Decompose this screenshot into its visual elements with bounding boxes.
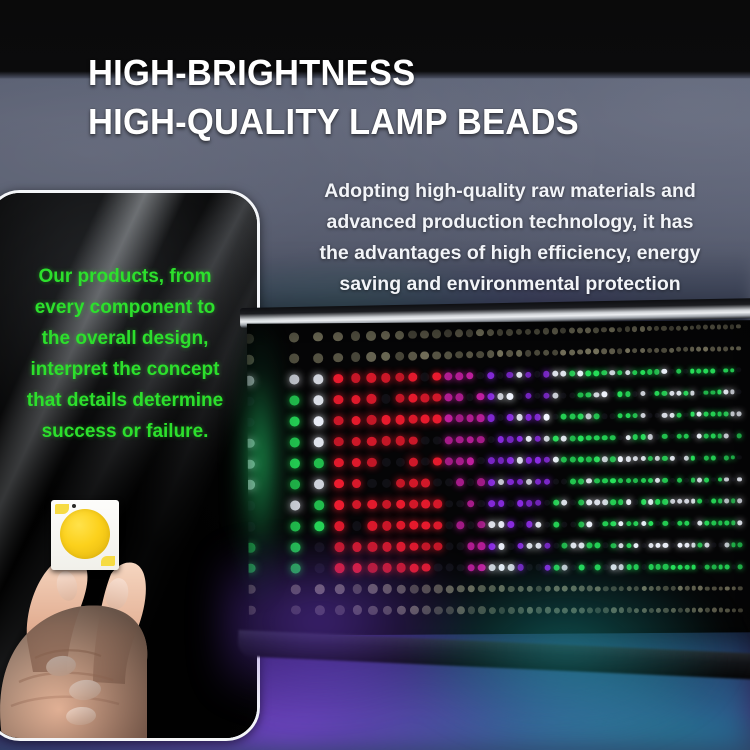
led-dot xyxy=(382,563,392,573)
led-dot xyxy=(669,347,674,352)
led-dot xyxy=(409,500,418,509)
led-dot xyxy=(723,324,728,329)
led-dot xyxy=(422,521,431,530)
led-dot xyxy=(409,479,418,488)
led-dot xyxy=(468,564,476,572)
led-dot xyxy=(678,608,683,613)
led-dot xyxy=(610,435,616,441)
led-dot xyxy=(730,324,735,329)
led-dot xyxy=(624,327,629,332)
led-dot xyxy=(291,563,301,573)
led-dot xyxy=(737,411,742,416)
led-dot xyxy=(534,371,540,377)
led-dot xyxy=(506,350,513,357)
led-dot xyxy=(498,543,505,550)
led-dot xyxy=(422,563,431,572)
led-dot xyxy=(487,436,494,443)
led-dot xyxy=(445,500,453,508)
led-dot xyxy=(602,456,608,462)
led-dot xyxy=(579,564,585,570)
led-dot xyxy=(711,477,716,482)
led-dot xyxy=(724,477,729,482)
led-dot xyxy=(467,500,475,508)
led-dot xyxy=(670,478,675,483)
led-dot xyxy=(527,564,534,571)
led-dot xyxy=(314,479,324,489)
led-dot xyxy=(668,326,673,331)
led-dot xyxy=(648,499,653,504)
led-dot xyxy=(684,543,689,548)
led-dot xyxy=(640,370,645,375)
led-dot xyxy=(315,563,325,573)
led-dot xyxy=(639,326,644,331)
led-dot xyxy=(578,521,584,527)
led-dot xyxy=(669,456,674,461)
led-dot xyxy=(408,394,417,403)
led-dot xyxy=(315,584,325,594)
led-dot xyxy=(603,586,609,592)
led-dot xyxy=(367,500,377,510)
led-dot xyxy=(457,585,465,593)
led-dot xyxy=(395,330,404,339)
led-dot xyxy=(313,332,323,342)
led-dot xyxy=(445,542,453,550)
led-dot xyxy=(395,415,404,424)
led-dot xyxy=(655,413,660,418)
led-dot xyxy=(507,436,514,443)
led-dot xyxy=(477,393,484,400)
led-dot xyxy=(421,457,430,466)
led-dot xyxy=(351,395,361,405)
led-dot xyxy=(334,416,344,426)
led-dot xyxy=(544,521,550,527)
led-dot xyxy=(595,564,601,570)
led-dot xyxy=(535,436,541,442)
led-dot xyxy=(717,346,722,351)
led-dot xyxy=(382,436,392,446)
led-dot xyxy=(683,325,688,330)
led-dot xyxy=(577,371,583,377)
led-dot xyxy=(737,390,742,395)
led-dot xyxy=(456,521,464,529)
led-dot xyxy=(691,543,696,548)
led-dot xyxy=(602,500,608,506)
led-dot xyxy=(697,412,702,417)
led-dot xyxy=(553,457,559,463)
led-dot xyxy=(534,328,540,334)
led-dot xyxy=(718,521,723,526)
led-dot xyxy=(570,564,576,570)
led-dot xyxy=(697,369,702,374)
led-dot xyxy=(335,563,345,573)
led-dot xyxy=(434,521,442,529)
led-dot xyxy=(525,393,532,400)
led-dot xyxy=(676,456,681,461)
led-dot xyxy=(545,586,551,592)
led-dot xyxy=(289,333,299,343)
led-dot xyxy=(498,500,505,507)
led-dot xyxy=(640,456,645,461)
led-dot xyxy=(396,563,405,572)
led-dot xyxy=(290,480,300,490)
led-dot xyxy=(351,458,361,468)
led-dot xyxy=(498,564,505,571)
led-dot xyxy=(410,585,419,594)
led-dot xyxy=(506,329,513,336)
led-dot xyxy=(488,564,495,571)
led-dot xyxy=(544,414,550,420)
led-dot xyxy=(587,586,593,592)
led-dot xyxy=(433,479,441,487)
led-dot xyxy=(663,608,668,613)
led-dot xyxy=(352,605,362,615)
led-dot xyxy=(569,371,575,377)
led-dot xyxy=(396,478,405,487)
led-dot xyxy=(705,564,710,569)
led-dot xyxy=(689,325,694,330)
led-dot xyxy=(569,392,575,398)
led-dot xyxy=(610,413,616,419)
led-dot xyxy=(691,586,696,591)
led-dot xyxy=(710,390,715,395)
led-dot xyxy=(691,564,696,569)
led-dot xyxy=(703,368,708,373)
led-dot xyxy=(718,586,723,591)
led-dot xyxy=(545,564,551,570)
led-dot xyxy=(602,435,608,441)
led-dot xyxy=(526,457,533,464)
led-dot xyxy=(647,326,652,331)
led-dot xyxy=(662,369,667,374)
led-dot xyxy=(444,330,452,338)
led-dot xyxy=(381,373,391,383)
inset-photo-panel: Our products, from every component to th… xyxy=(0,190,260,741)
led-dot xyxy=(586,435,592,441)
led-dot xyxy=(619,586,625,592)
led-dot xyxy=(647,391,652,396)
led-dot xyxy=(498,521,505,528)
led-dot xyxy=(497,350,504,357)
led-dot xyxy=(351,352,361,362)
led-dot xyxy=(677,586,682,591)
led-dot xyxy=(552,371,558,377)
led-dot xyxy=(422,500,431,509)
led-dot xyxy=(595,607,601,613)
led-dot xyxy=(663,564,668,569)
led-dot xyxy=(717,368,722,373)
led-dot xyxy=(731,564,736,569)
led-dot xyxy=(544,478,550,484)
led-dot xyxy=(594,370,600,376)
led-dot xyxy=(247,355,254,365)
led-dot xyxy=(478,500,485,507)
led-dot xyxy=(602,392,608,398)
led-dot xyxy=(670,543,675,548)
led-dot xyxy=(457,542,465,550)
led-dot xyxy=(553,564,559,570)
led-dot xyxy=(683,390,688,395)
led-dot xyxy=(382,521,392,531)
led-dot xyxy=(725,543,730,548)
led-dot xyxy=(677,477,682,482)
led-dot xyxy=(352,584,362,594)
led-dot xyxy=(368,563,378,573)
led-dot xyxy=(633,413,638,418)
led-dot xyxy=(736,324,741,329)
led-dot xyxy=(552,435,558,441)
led-dot xyxy=(536,564,542,570)
led-dot xyxy=(467,479,475,487)
led-dot xyxy=(434,606,442,614)
led-dot xyxy=(696,325,701,330)
led-dot xyxy=(585,349,591,355)
led-dot xyxy=(290,501,300,511)
led-dot xyxy=(467,436,475,444)
led-dot xyxy=(517,543,524,550)
led-dot xyxy=(587,607,593,613)
led-dot xyxy=(289,354,299,364)
led-dot xyxy=(516,371,523,378)
led-dot xyxy=(570,457,576,463)
led-dot xyxy=(446,564,454,572)
led-dot xyxy=(676,391,681,396)
led-dot xyxy=(587,543,593,549)
led-dot xyxy=(291,543,301,553)
led-dot xyxy=(455,330,463,338)
led-dot xyxy=(247,376,254,386)
led-dot xyxy=(737,499,742,504)
led-dot xyxy=(446,585,454,593)
led-dot xyxy=(561,457,567,463)
led-dot xyxy=(534,393,540,399)
led-dot xyxy=(397,606,406,615)
led-dot xyxy=(569,435,575,441)
led-dot xyxy=(334,479,344,489)
led-dot xyxy=(586,478,592,484)
led-dot xyxy=(698,543,703,548)
led-dot xyxy=(711,564,716,569)
led-dot xyxy=(351,437,361,447)
led-dot xyxy=(544,500,550,506)
led-dot xyxy=(456,415,464,423)
led-dot xyxy=(691,608,696,613)
led-dot xyxy=(704,477,709,482)
led-dot xyxy=(640,413,645,418)
led-dot xyxy=(595,543,601,549)
led-dot xyxy=(595,521,601,527)
led-dot xyxy=(554,607,560,613)
led-dot xyxy=(654,348,659,353)
led-dot xyxy=(602,413,608,419)
led-dot xyxy=(433,372,441,380)
led-dot xyxy=(725,586,730,591)
led-dot xyxy=(410,606,419,615)
led-dot xyxy=(626,499,631,504)
led-dot xyxy=(368,605,378,615)
led-dot xyxy=(552,414,558,420)
led-dot xyxy=(527,586,534,593)
led-dot xyxy=(536,607,542,613)
led-dot xyxy=(466,393,474,401)
led-dot xyxy=(684,521,689,526)
led-dot xyxy=(433,415,441,423)
led-dot xyxy=(670,499,675,504)
led-dot xyxy=(626,478,631,483)
led-dot xyxy=(641,608,646,613)
led-dot xyxy=(696,347,701,352)
led-dot xyxy=(352,542,362,552)
led-dot xyxy=(571,607,577,613)
led-bezel-bottom xyxy=(237,630,750,680)
led-dot xyxy=(704,434,709,439)
led-dot xyxy=(466,351,474,359)
led-dot xyxy=(611,543,617,549)
led-dot xyxy=(498,479,505,486)
led-dot xyxy=(725,608,730,613)
led-dot xyxy=(552,392,558,398)
led-dot xyxy=(544,543,550,549)
led-dot xyxy=(724,499,729,504)
led-dot xyxy=(334,521,344,531)
led-dot xyxy=(526,436,533,443)
led-dot xyxy=(595,586,601,592)
led-dot xyxy=(704,521,709,526)
led-dot xyxy=(602,478,608,484)
led-dot xyxy=(603,607,609,613)
led-dot xyxy=(314,458,324,468)
led-dot xyxy=(577,392,583,398)
led-dot xyxy=(570,500,576,506)
led-dot xyxy=(409,457,418,466)
cob-led-chip xyxy=(51,500,119,570)
led-dot xyxy=(698,564,703,569)
led-dot xyxy=(562,586,568,592)
led-dot xyxy=(690,434,695,439)
led-dot xyxy=(477,372,484,379)
led-dot xyxy=(577,327,583,333)
led-dot xyxy=(594,435,600,441)
hand-holding-chip-photo xyxy=(0,444,257,741)
led-dot xyxy=(698,499,703,504)
led-dot xyxy=(433,457,441,465)
led-dot xyxy=(498,585,505,592)
led-dot xyxy=(517,521,524,528)
led-dot xyxy=(478,585,485,592)
led-dot xyxy=(618,543,624,549)
led-dot xyxy=(649,586,654,591)
led-dot xyxy=(718,477,723,482)
led-dot xyxy=(724,433,729,438)
led-dot xyxy=(731,521,736,526)
led-dot xyxy=(383,605,393,615)
led-dot xyxy=(553,586,559,592)
led-dot xyxy=(477,351,484,358)
led-dot xyxy=(662,456,667,461)
led-dot xyxy=(507,500,514,507)
led-dot xyxy=(445,436,453,444)
led-dot xyxy=(290,375,300,385)
led-dot xyxy=(625,391,630,396)
led-dot xyxy=(434,564,442,572)
led-dot xyxy=(487,457,494,464)
led-dot xyxy=(366,352,376,362)
led-dot xyxy=(367,394,377,404)
led-dot xyxy=(676,347,681,352)
led-dot xyxy=(478,564,485,571)
led-dot xyxy=(632,326,637,331)
led-dot xyxy=(737,433,742,438)
led-dot xyxy=(352,521,362,531)
led-dot xyxy=(496,329,503,336)
led-dot xyxy=(663,521,668,526)
led-dot xyxy=(352,500,362,510)
led-dot xyxy=(691,499,696,504)
led-dot xyxy=(445,521,453,529)
led-dot xyxy=(656,543,661,548)
led-dot xyxy=(545,607,551,613)
chip-phosphor-dome xyxy=(60,509,110,559)
led-dot xyxy=(552,328,558,334)
led-dot xyxy=(395,394,404,403)
led-dot xyxy=(610,478,616,484)
led-dot xyxy=(669,369,674,374)
led-dot xyxy=(594,413,600,419)
led-dot xyxy=(562,521,568,527)
led-dot xyxy=(579,586,585,592)
led-dot xyxy=(593,327,599,333)
led-dot xyxy=(655,478,660,483)
led-dot xyxy=(677,521,682,526)
led-dot xyxy=(663,499,668,504)
led-dot xyxy=(526,543,533,550)
led-dot xyxy=(632,391,637,396)
led-dot xyxy=(497,414,504,421)
led-dot xyxy=(712,586,717,591)
led-dot xyxy=(633,435,638,440)
led-dot xyxy=(738,564,743,569)
led-dot xyxy=(731,455,736,460)
led-dot xyxy=(578,414,584,420)
led-dot xyxy=(383,584,393,594)
led-dot xyxy=(488,585,495,592)
led-dot xyxy=(718,608,723,613)
led-dot xyxy=(381,415,391,425)
led-dot xyxy=(617,327,623,333)
led-dot xyxy=(395,373,404,382)
led-dot xyxy=(730,412,735,417)
led-dot xyxy=(703,347,708,352)
led-dot xyxy=(467,543,475,551)
led-dot xyxy=(488,521,495,528)
led-dot xyxy=(609,348,615,354)
led-dot xyxy=(335,542,345,552)
led-dot xyxy=(618,435,624,441)
led-dot xyxy=(594,392,600,398)
led-dot xyxy=(516,436,523,443)
led-dot xyxy=(648,521,653,526)
led-dot xyxy=(690,390,695,395)
led-dot xyxy=(705,543,710,548)
led-dot xyxy=(587,564,593,570)
led-dot xyxy=(409,436,418,445)
led-dot xyxy=(553,521,559,527)
led-dot xyxy=(562,543,568,549)
led-dot xyxy=(711,455,716,460)
led-dot xyxy=(738,521,743,526)
led-dot xyxy=(683,456,688,461)
led-dot xyxy=(487,415,494,422)
led-dot xyxy=(649,608,654,613)
